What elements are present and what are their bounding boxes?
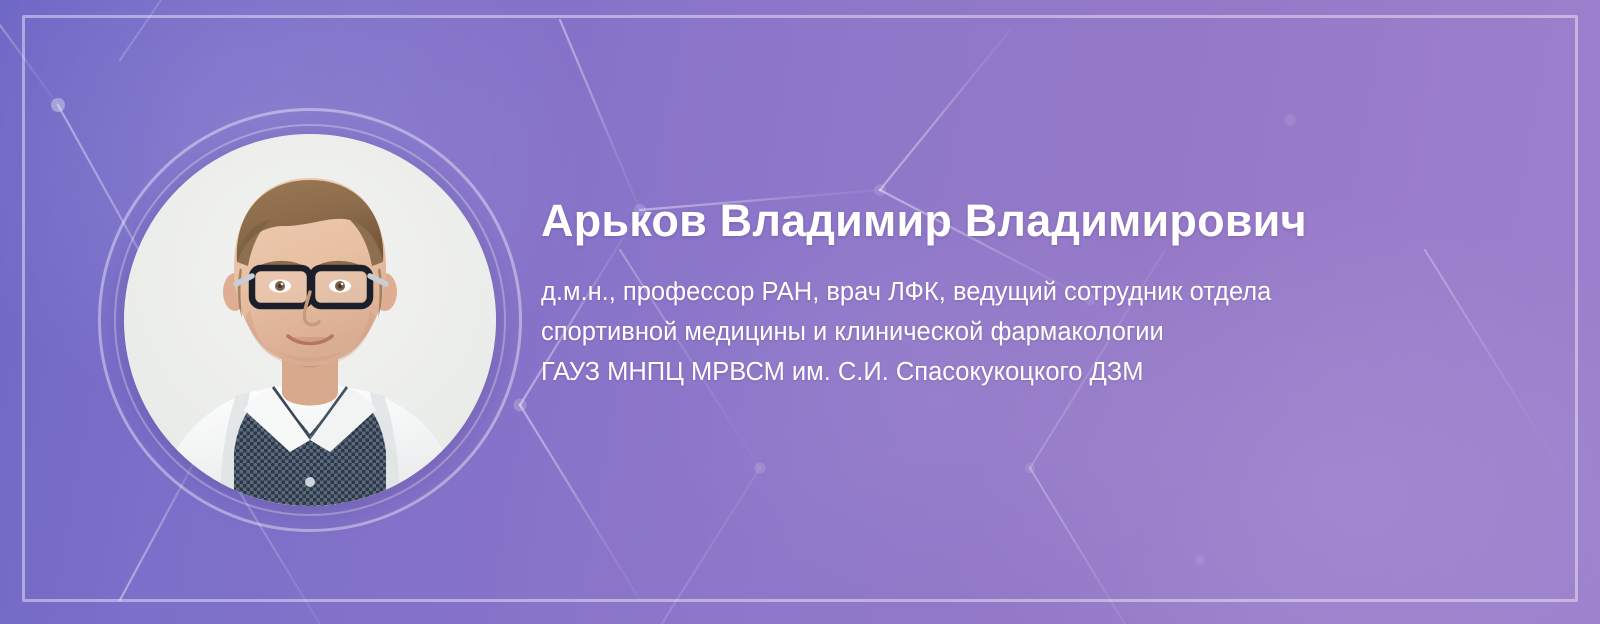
speaker-photo	[124, 134, 496, 506]
credentials-line-1: д.м.н., профессор РАН, врач ЛФК, ведущий…	[541, 272, 1541, 312]
speaker-text-block: Арьков Владимир Владимирович д.м.н., про…	[541, 196, 1541, 392]
avatar	[98, 108, 522, 532]
speaker-banner: Арьков Владимир Владимирович д.м.н., про…	[0, 0, 1600, 624]
page-title: Арьков Владимир Владимирович	[541, 196, 1541, 246]
credentials-line-3: ГАУЗ МНПЦ МРВСМ им. С.И. Спасокукоцкого …	[541, 352, 1541, 392]
portrait-photo-icon	[124, 134, 496, 506]
credentials-line-2: спортивной медицины и клинической фармак…	[541, 312, 1541, 352]
speaker-credentials: д.м.н., профессор РАН, врач ЛФК, ведущий…	[541, 272, 1541, 392]
